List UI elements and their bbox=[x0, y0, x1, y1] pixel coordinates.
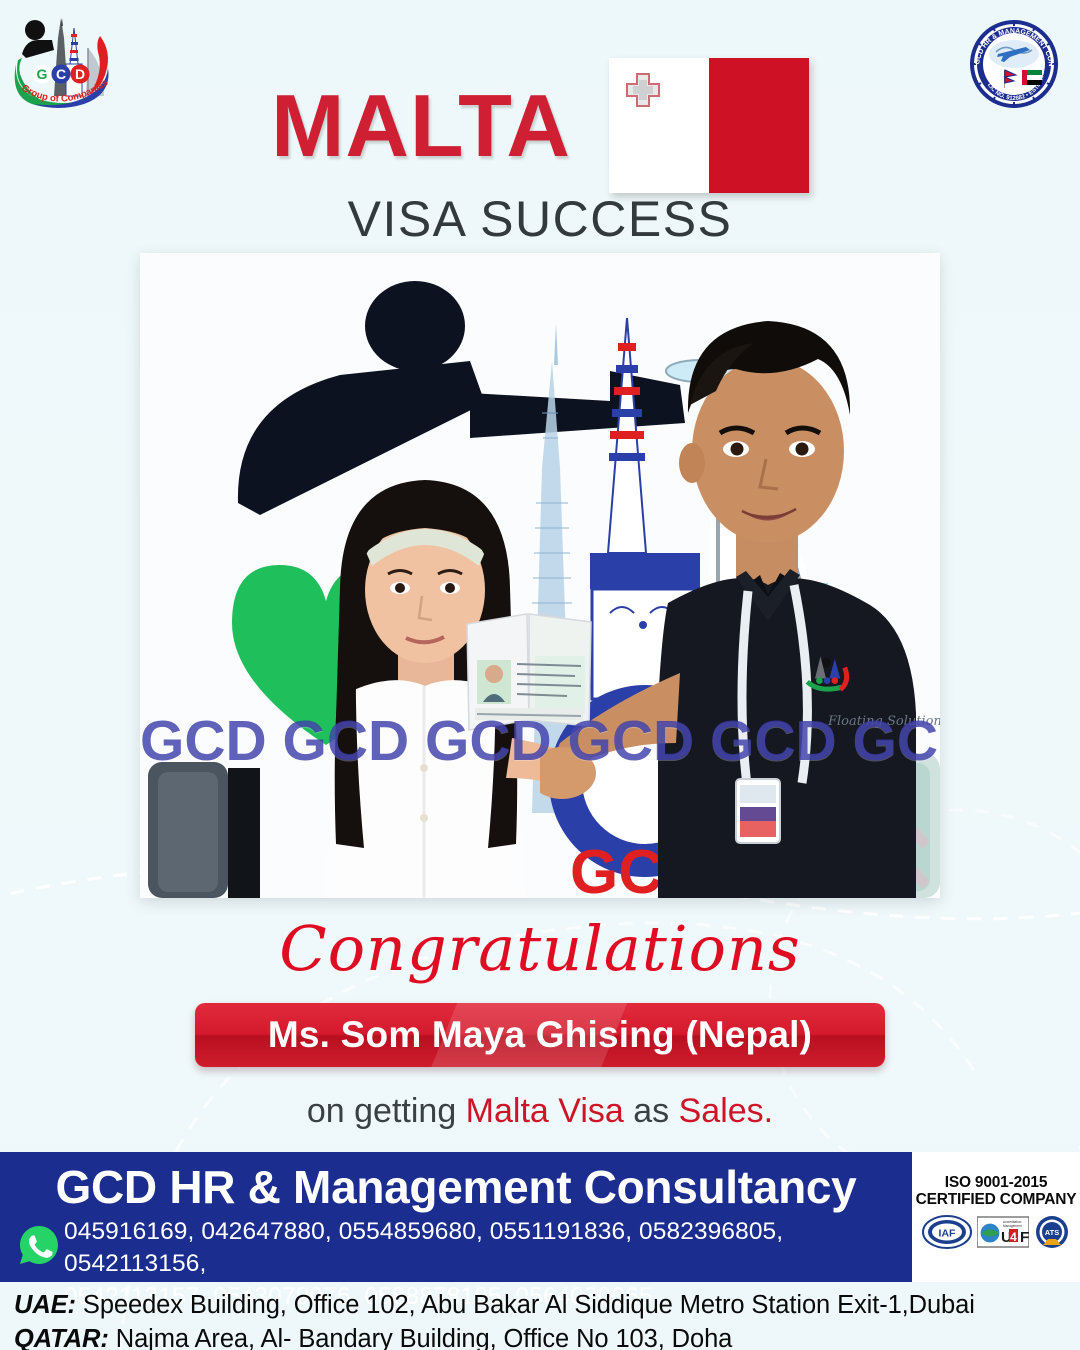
qatar-label: QATAR: bbox=[14, 1325, 109, 1350]
page-title: MALTA bbox=[271, 82, 571, 170]
svg-text:IAF: IAF bbox=[939, 1227, 957, 1239]
title-row: MALTA bbox=[0, 58, 1080, 193]
flag-red-half bbox=[709, 58, 809, 193]
phones-line-1: 045916169, 042647880, 0554859680, 055119… bbox=[64, 1216, 904, 1281]
whatsapp-icon[interactable] bbox=[18, 1224, 60, 1266]
success-photo: D GCD bbox=[140, 253, 940, 898]
iaf-badge-icon: IAF bbox=[922, 1215, 972, 1249]
george-cross-icon bbox=[625, 72, 661, 108]
uae-address: Speedex Building, Office 102, Abu Bakar … bbox=[76, 1291, 975, 1319]
malta-flag bbox=[609, 58, 809, 193]
uae-label: UAE: bbox=[14, 1291, 76, 1319]
congratulations-text: Congratulations bbox=[0, 918, 1080, 980]
svg-text:ATS: ATS bbox=[1045, 1228, 1059, 1237]
address-line-qatar: QATAR: Najma Area, Al- Bandary Building,… bbox=[14, 1322, 975, 1350]
svg-text:F: F bbox=[1020, 1229, 1029, 1246]
gcd-watermark: GCD GCD GCD GCD GCD GCD GCD bbox=[140, 708, 940, 774]
ats-badge-icon: ATS bbox=[1034, 1215, 1070, 1249]
office-chair-left bbox=[140, 758, 260, 898]
achievement-middle: as bbox=[624, 1092, 679, 1130]
achievement-visa: Malta Visa bbox=[466, 1092, 624, 1130]
achievement-line: on getting Malta Visa as Sales. bbox=[0, 1092, 1080, 1131]
recipient-name: Ms. Som Maya Ghising (Nepal) bbox=[268, 1014, 812, 1056]
uaf-badge-icon: U 4 F Accreditation Management bbox=[977, 1215, 1029, 1249]
page-subtitle: VISA SUCCESS bbox=[0, 190, 1080, 248]
recipient-banner-wrap: Ms. Som Maya Ghising (Nepal) bbox=[0, 1003, 1080, 1067]
flag-white-half bbox=[609, 58, 709, 193]
visa-success-poster: G C D Group of Companies bbox=[0, 0, 1080, 1350]
iso-certification-block: ISO 9001-2015 CERTIFIED COMPANY IAF U 4 … bbox=[912, 1152, 1080, 1282]
address-line-uae: UAE: Speedex Building, Office 102, Abu B… bbox=[14, 1288, 975, 1322]
footer-company-name: GCD HR & Management Consultancy bbox=[0, 1160, 912, 1214]
male-consultant: Floating Solution bbox=[540, 273, 940, 898]
office-addresses: UAE: Speedex Building, Office 102, Abu B… bbox=[14, 1288, 975, 1350]
footer-bar: GCD HR & Management Consultancy 04591616… bbox=[0, 1152, 912, 1282]
svg-text:Management: Management bbox=[1003, 1224, 1022, 1228]
iso-standard-label: ISO 9001-2015 bbox=[912, 1174, 1080, 1191]
recipient-banner: Ms. Som Maya Ghising (Nepal) bbox=[195, 1003, 885, 1067]
qatar-address: Najma Area, Al- Bandary Building, Office… bbox=[109, 1325, 732, 1350]
iso-certified-label: CERTIFIED COMPANY bbox=[912, 1191, 1080, 1208]
achievement-role: Sales. bbox=[679, 1092, 774, 1130]
iso-badge-row: IAF U 4 F Accreditation Management bbox=[912, 1215, 1080, 1249]
svg-text:4: 4 bbox=[1010, 1230, 1017, 1244]
achievement-prefix: on getting bbox=[307, 1092, 466, 1130]
